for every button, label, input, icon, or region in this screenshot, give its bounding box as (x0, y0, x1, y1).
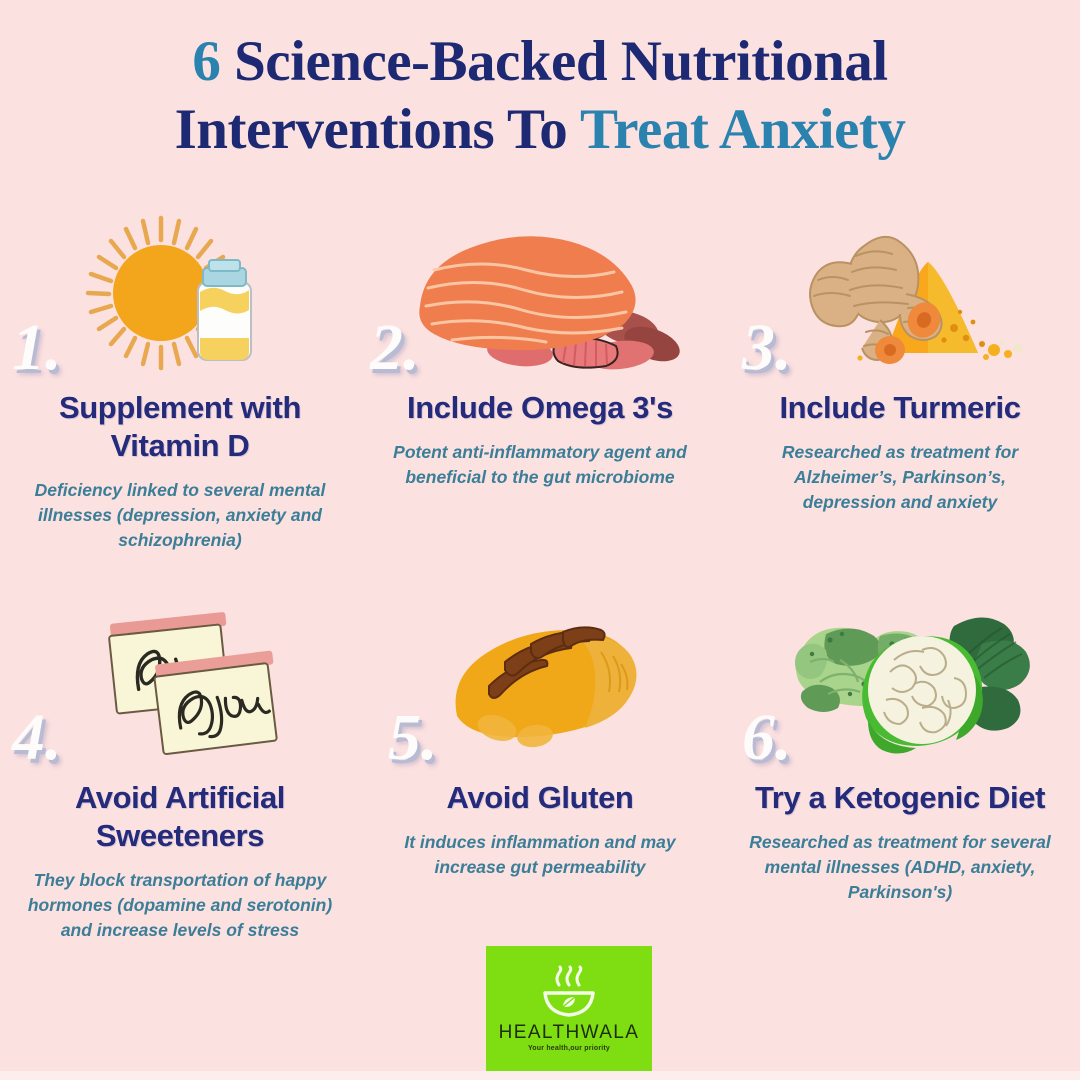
title-line-1: 6 Science-Backed Nutritional (0, 28, 1080, 96)
tip-title-4: Avoid Artificial Sweeteners (0, 779, 360, 855)
page-title: 6 Science-Backed Nutritional Interventio… (0, 28, 1080, 164)
tips-grid: 1. (0, 210, 1080, 990)
tip-number-4: 4. (12, 705, 62, 771)
tip-description-5: It induces inflammation and may increase… (360, 830, 720, 880)
tip-card-5: 5. (360, 600, 720, 990)
tip-number-1: 1. (12, 315, 62, 381)
tip-card-5-art: 5. (360, 600, 720, 765)
title-accent-text: Treat Anxiety (580, 98, 905, 161)
tip-title-3: Include Turmeric (720, 389, 1080, 427)
tip-card-3: 3. (720, 210, 1080, 600)
tip-card-4-art: 4. (0, 600, 360, 765)
tip-card-1: 1. (0, 210, 360, 600)
title-line-2: Interventions To Treat Anxiety (0, 96, 1080, 164)
turmeric-root-and-powder-icon (768, 210, 1033, 375)
logo-tagline: Your health,our priority (528, 1045, 610, 1052)
broccoli-cauliflower-icon (768, 600, 1033, 765)
title-count: 6 (192, 30, 220, 93)
bottom-edge-strip (0, 1071, 1080, 1080)
sugar-packets-icon (73, 600, 288, 765)
tip-description-3: Researched as treatment for Alzheimer’s,… (720, 440, 1080, 515)
tip-card-4: 4. (0, 600, 360, 990)
steaming-bowl-with-leaf-icon (537, 967, 601, 1021)
tip-card-6-art: 6. (720, 600, 1080, 765)
tip-card-3-art: 3. (720, 210, 1080, 375)
sugar-packet-front (152, 650, 282, 754)
tip-title-6: Try a Ketogenic Diet (720, 779, 1080, 817)
cauliflower (862, 636, 983, 754)
tip-description-4: They block transportation of happy hormo… (0, 868, 360, 943)
bread-loaf-icon (425, 600, 655, 765)
title-line-2-text: Interventions To (175, 98, 580, 161)
sun-and-supplement-bottle-icon (73, 210, 288, 375)
tip-card-1-art: 1. (0, 210, 360, 375)
tip-card-2-art: 2. (360, 210, 720, 375)
logo-brand-name: HEALTHWALA (499, 1023, 640, 1043)
tip-title-1: Supplement with Vitamin D (0, 389, 360, 465)
tip-card-6: 6. (720, 600, 1080, 990)
brand-logo[interactable]: HEALTHWALA Your health,our priority (486, 946, 652, 1073)
salmon-fillet-icon (400, 210, 680, 375)
tip-card-2: 2. (360, 210, 720, 600)
infographic-page: 6 Science-Backed Nutritional Interventio… (0, 0, 1080, 1080)
tip-description-2: Potent anti-inflammatory agent and benef… (360, 440, 720, 490)
title-line-1-text: Science-Backed Nutritional (220, 30, 887, 93)
supplement-bottle (198, 260, 251, 360)
tip-title-2: Include Omega 3's (360, 389, 720, 427)
tip-description-1: Deficiency linked to several mental illn… (0, 478, 360, 553)
tip-description-6: Researched as treatment for several ment… (720, 830, 1080, 905)
tip-title-5: Avoid Gluten (360, 779, 720, 817)
